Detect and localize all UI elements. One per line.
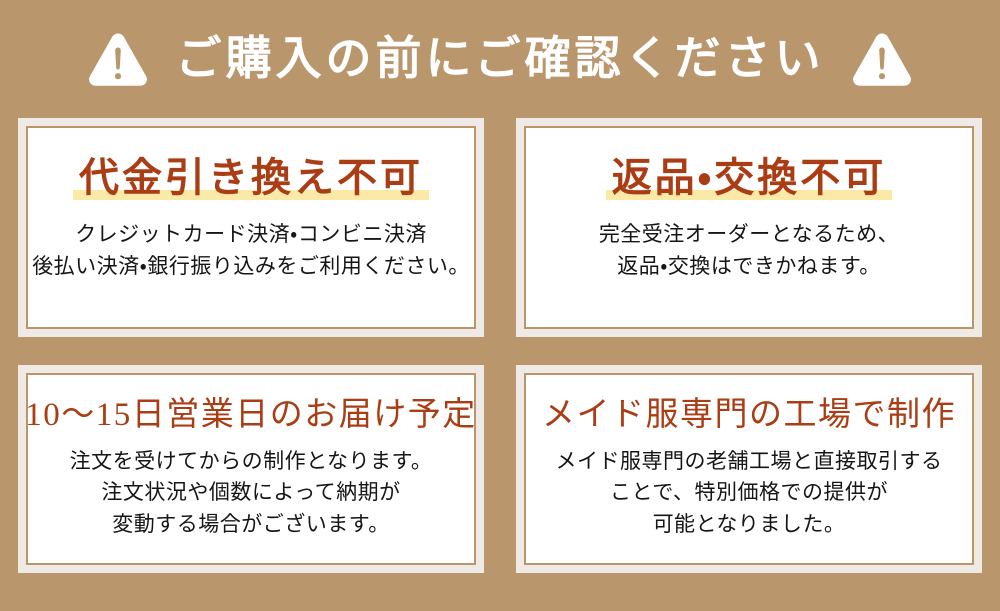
card-body-line: 後払い決済・銀行振り込みをご利用ください。 bbox=[32, 251, 470, 283]
card-heading: 返品・交換不可 bbox=[612, 156, 887, 201]
card-heading: メイド服専門の工場で制作 bbox=[542, 397, 956, 434]
card-inner: メイド服専門の工場で制作 メイド服専門の老舗工場と直接取引する ことで、特別価格… bbox=[524, 373, 974, 565]
card-inner: 返品・交換不可 完全受注オーダーとなるため、 返品・交換はできかねます。 bbox=[524, 126, 974, 329]
banner-header: ご購入の前にご確認ください bbox=[0, 0, 1000, 120]
card-inner: 10〜15日営業日のお届け予定 注文を受けてからの制作となります。 注文状況や個… bbox=[26, 373, 476, 565]
card-body-line: 完全受注オーダーとなるため、 bbox=[599, 219, 899, 251]
card-heading-text: メイド服専門の工場で制作 bbox=[542, 397, 956, 433]
card-body: メイド服専門の老舗工場と直接取引する ことで、特別価格での提供が 可能となりまし… bbox=[542, 446, 957, 541]
card-body: 完全受注オーダーとなるため、 返品・交換はできかねます。 bbox=[585, 219, 913, 283]
card-body-line: 返品・交換はできかねます。 bbox=[599, 251, 899, 283]
notice-card-cash-on-delivery: 代金引き換え不可 クレジットカード決済・コンビニ決済 後払い決済・銀行振り込みを… bbox=[18, 118, 484, 337]
card-heading-text: 代金引き換え不可 bbox=[79, 155, 423, 200]
card-body-line: クレジットカード決済・コンビニ決済 bbox=[32, 219, 470, 251]
card-heading-text: 返品・交換不可 bbox=[612, 155, 887, 200]
notice-card-returns-exchanges: 返品・交換不可 完全受注オーダーとなるため、 返品・交換はできかねます。 bbox=[516, 118, 982, 337]
card-heading-text: 10〜15日営業日のお届け予定 bbox=[25, 397, 477, 433]
warning-triangle-icon-left bbox=[87, 31, 149, 89]
notice-card-grid: 代金引き換え不可 クレジットカード決済・コンビニ決済 後払い決済・銀行振り込みを… bbox=[18, 118, 982, 573]
card-heading: 10〜15日営業日のお届け予定 bbox=[25, 397, 477, 434]
card-inner: 代金引き換え不可 クレジットカード決済・コンビニ決済 後払い決済・銀行振り込みを… bbox=[26, 126, 476, 329]
card-body: クレジットカード決済・コンビニ決済 後払い決済・銀行振り込みをご利用ください。 bbox=[18, 219, 484, 283]
card-body-line: 可能となりました。 bbox=[556, 509, 943, 541]
warning-triangle-icon-right bbox=[851, 31, 913, 89]
card-body-line: 注文状況や個数によって納期が bbox=[70, 477, 433, 509]
notice-banner: ご購入の前にご確認ください 代金引き換え不可 クレジットカード決済・コンビニ決済… bbox=[0, 0, 1000, 611]
card-body-line: 変動する場合がございます。 bbox=[70, 509, 433, 541]
notice-card-maid-uniform-factory: メイド服専門の工場で制作 メイド服専門の老舗工場と直接取引する ことで、特別価格… bbox=[516, 365, 982, 573]
page-title: ご購入の前にご確認ください bbox=[175, 36, 824, 84]
card-body-line: メイド服専門の老舗工場と直接取引する bbox=[556, 446, 943, 478]
card-heading: 代金引き換え不可 bbox=[79, 156, 423, 201]
card-body-line: 注文を受けてからの制作となります。 bbox=[70, 446, 433, 478]
card-body: 注文を受けてからの制作となります。 注文状況や個数によって納期が 変動する場合が… bbox=[56, 446, 447, 541]
card-body-line: ことで、特別価格での提供が bbox=[556, 477, 943, 509]
notice-card-delivery-schedule: 10〜15日営業日のお届け予定 注文を受けてからの制作となります。 注文状況や個… bbox=[18, 365, 484, 573]
